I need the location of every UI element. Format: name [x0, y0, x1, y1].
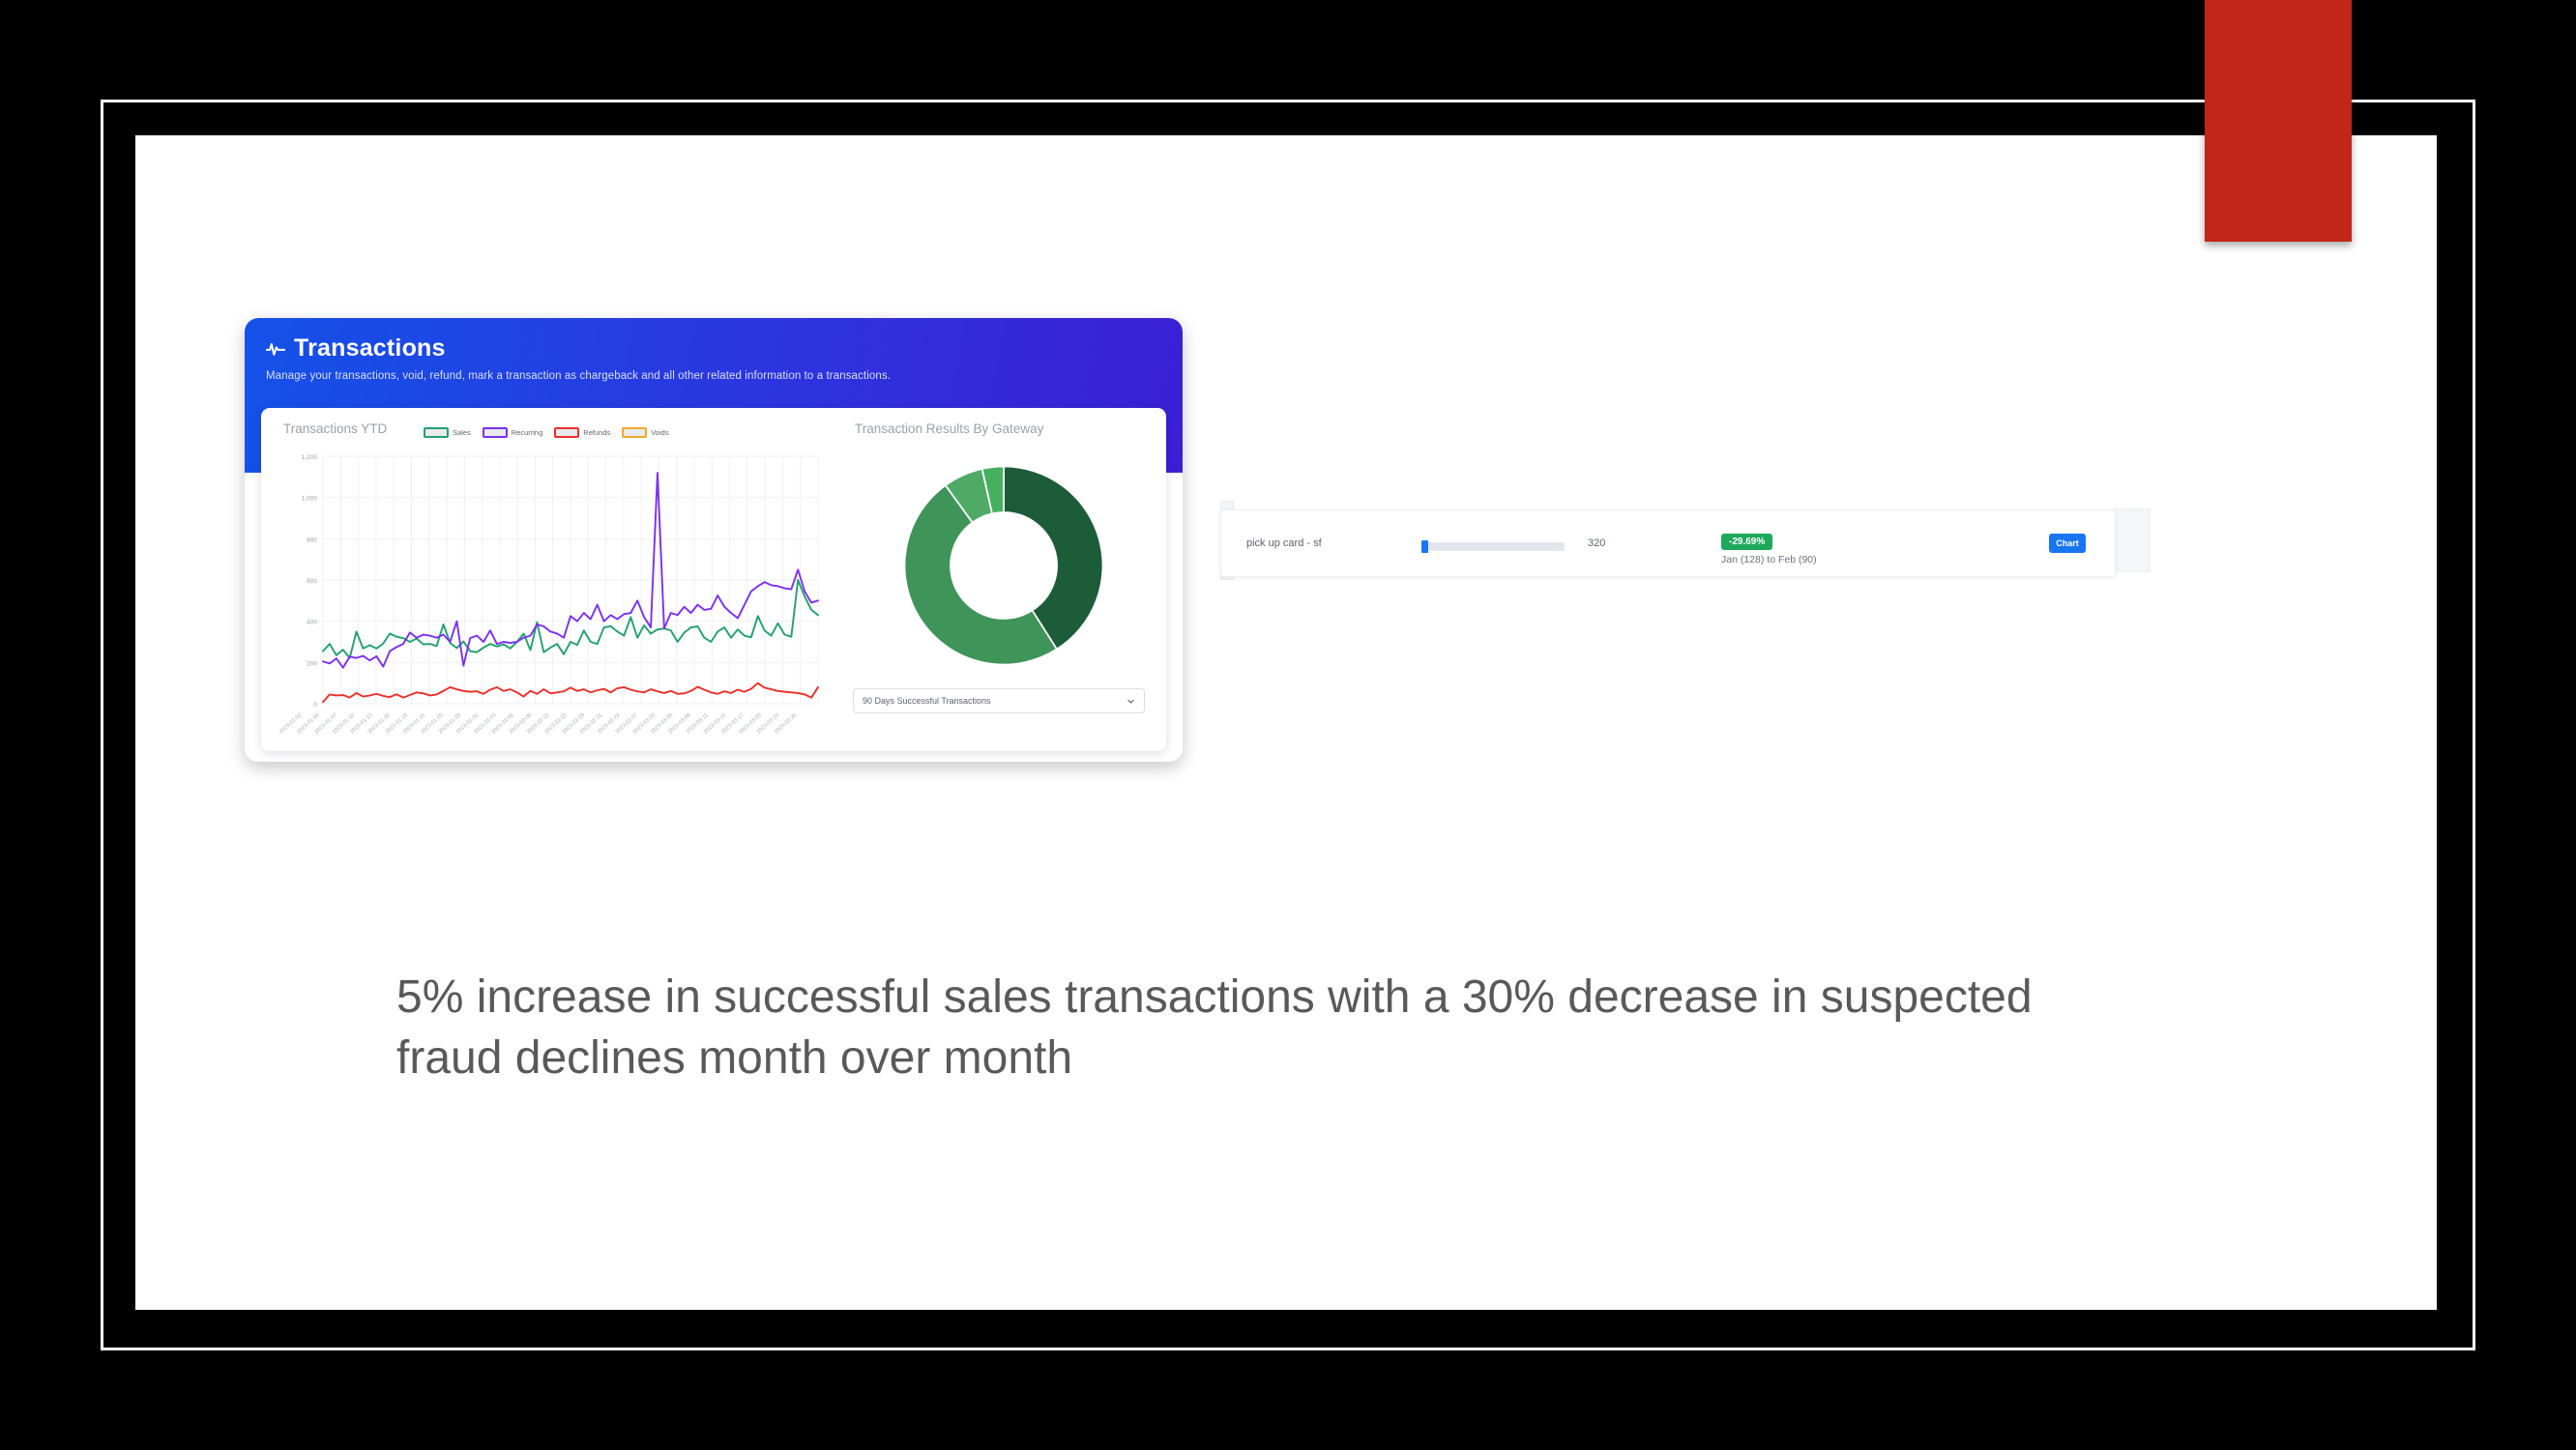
dashboard-body: Transactions YTD SalesRecurringRefundsVo…	[261, 408, 1166, 751]
legend-swatch-recurring	[483, 427, 508, 438]
transactions-dashboard-card: Transactions Manage your transactions, v…	[245, 318, 1183, 762]
decline-volume-slider[interactable]	[1421, 542, 1565, 551]
page-title: Transactions	[294, 336, 446, 361]
legend-item-recurring[interactable]: Recurring	[483, 427, 543, 438]
legend-item-sales[interactable]: Sales	[424, 427, 471, 438]
page-subtitle: Manage your transactions, void, refund, …	[266, 370, 891, 382]
donut-chart-title: Transaction Results By Gateway	[855, 421, 1043, 436]
legend-item-voids[interactable]: Voids	[622, 427, 668, 438]
donut-range-select-value: 90 Days Successful Transactions	[863, 696, 1127, 706]
month-over-month-range: Jan (128) to Feb (90)	[1721, 554, 1817, 565]
legend-swatch-voids	[622, 427, 647, 438]
legend-label: Voids	[651, 428, 668, 437]
legend-label: Refunds	[583, 428, 610, 437]
red-accent-rectangle	[2205, 0, 2352, 242]
chevron-down-icon	[1127, 697, 1135, 706]
legend-label: Sales	[453, 428, 471, 437]
widget-right-strip	[2114, 508, 2151, 572]
chart-button[interactable]: Chart	[2049, 534, 2086, 553]
transactions-ytd-panel: Transactions YTD SalesRecurringRefundsVo…	[261, 408, 841, 751]
slide-caption: 5% increase in successful sales transact…	[396, 967, 2040, 1089]
pulse-icon	[266, 339, 285, 359]
legend-label: Recurring	[512, 428, 543, 437]
line-chart-legend: SalesRecurringRefundsVoids	[424, 427, 669, 438]
line-chart-axis-labels: 2023-01-012023-01-042023-01-072023-01-10…	[261, 450, 845, 751]
decline-reason-widget: pick up card - sf 320 -29.69% Jan (128) …	[1220, 509, 2116, 577]
legend-item-refunds[interactable]: Refunds	[554, 427, 610, 438]
legend-swatch-sales	[424, 427, 449, 438]
legend-swatch-refunds	[554, 427, 579, 438]
dashboard-title-row: Transactions	[266, 336, 446, 361]
decline-count-value: 320	[1588, 537, 1605, 549]
donut-chart-svg	[859, 445, 1149, 686]
decline-reason-label: pick up card - sf	[1246, 537, 1322, 549]
slide-canvas: Transactions Manage your transactions, v…	[0, 0, 2576, 1450]
line-chart-title: Transactions YTD	[283, 421, 387, 436]
slider-thumb[interactable]	[1421, 540, 1428, 553]
change-status-badge: -29.69%	[1721, 534, 1772, 550]
gateway-results-panel: Transaction Results By Gateway 90 Days S…	[845, 408, 1166, 751]
donut-chart	[859, 445, 1149, 686]
donut-range-select[interactable]: 90 Days Successful Transactions	[853, 688, 1145, 713]
decline-reason-row: pick up card - sf 320 -29.69% Jan (128) …	[1221, 510, 2117, 578]
